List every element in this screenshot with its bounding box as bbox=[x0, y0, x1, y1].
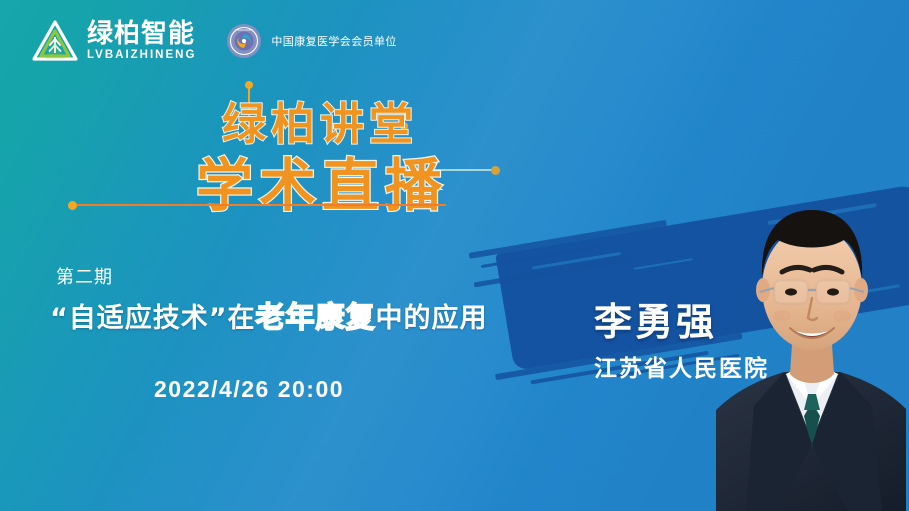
brush-streak bbox=[469, 220, 667, 259]
association-seal-icon bbox=[226, 23, 262, 59]
speaker-portrait-photo bbox=[716, 148, 906, 511]
topic-highlight: 老年康复 bbox=[256, 300, 376, 334]
brand-lockup: 绿柏智能 LVBAIZHINENG bbox=[32, 20, 196, 62]
brush-streak bbox=[481, 245, 600, 268]
association-label: 中国康复医学会会员单位 bbox=[271, 33, 396, 49]
speaker-organization: 江苏省人民医院 bbox=[594, 358, 769, 381]
poster-header: 绿柏智能 LVBAIZHINENG 中国康复医学会会员单位 bbox=[32, 20, 397, 62]
topic-title: “自适应技术”在老年康复中的应用 bbox=[50, 303, 488, 332]
speaker-name: 李勇强 bbox=[594, 303, 717, 341]
brush-gap bbox=[633, 258, 693, 270]
triangle-pine-logo-icon bbox=[32, 20, 78, 62]
topic-suffix: 中的应用 bbox=[376, 303, 488, 334]
title-line-2: 学术直播 bbox=[196, 158, 448, 215]
brush-gap bbox=[532, 252, 621, 270]
brand-wordmark: 绿柏智能 LVBAIZHINENG bbox=[87, 21, 196, 62]
topic-prefix: “自适应技术”在 bbox=[50, 303, 256, 334]
broadcast-datetime: 2022/4/26 20:00 bbox=[154, 376, 344, 403]
title-line-1: 绿柏讲堂 bbox=[222, 103, 418, 147]
episode-label: 第二期 bbox=[56, 263, 113, 289]
brand-name-en: LVBAIZHINENG bbox=[87, 50, 196, 62]
brand-name-cn: 绿柏智能 bbox=[87, 21, 196, 47]
live-stream-poster: 绿柏智能 LVBAIZHINENG 中国康复医学会会员单位 bbox=[0, 0, 909, 511]
association-lockup: 中国康复医学会会员单位 bbox=[226, 23, 396, 59]
decor-line-left bbox=[72, 204, 446, 206]
brush-streak bbox=[474, 256, 633, 287]
